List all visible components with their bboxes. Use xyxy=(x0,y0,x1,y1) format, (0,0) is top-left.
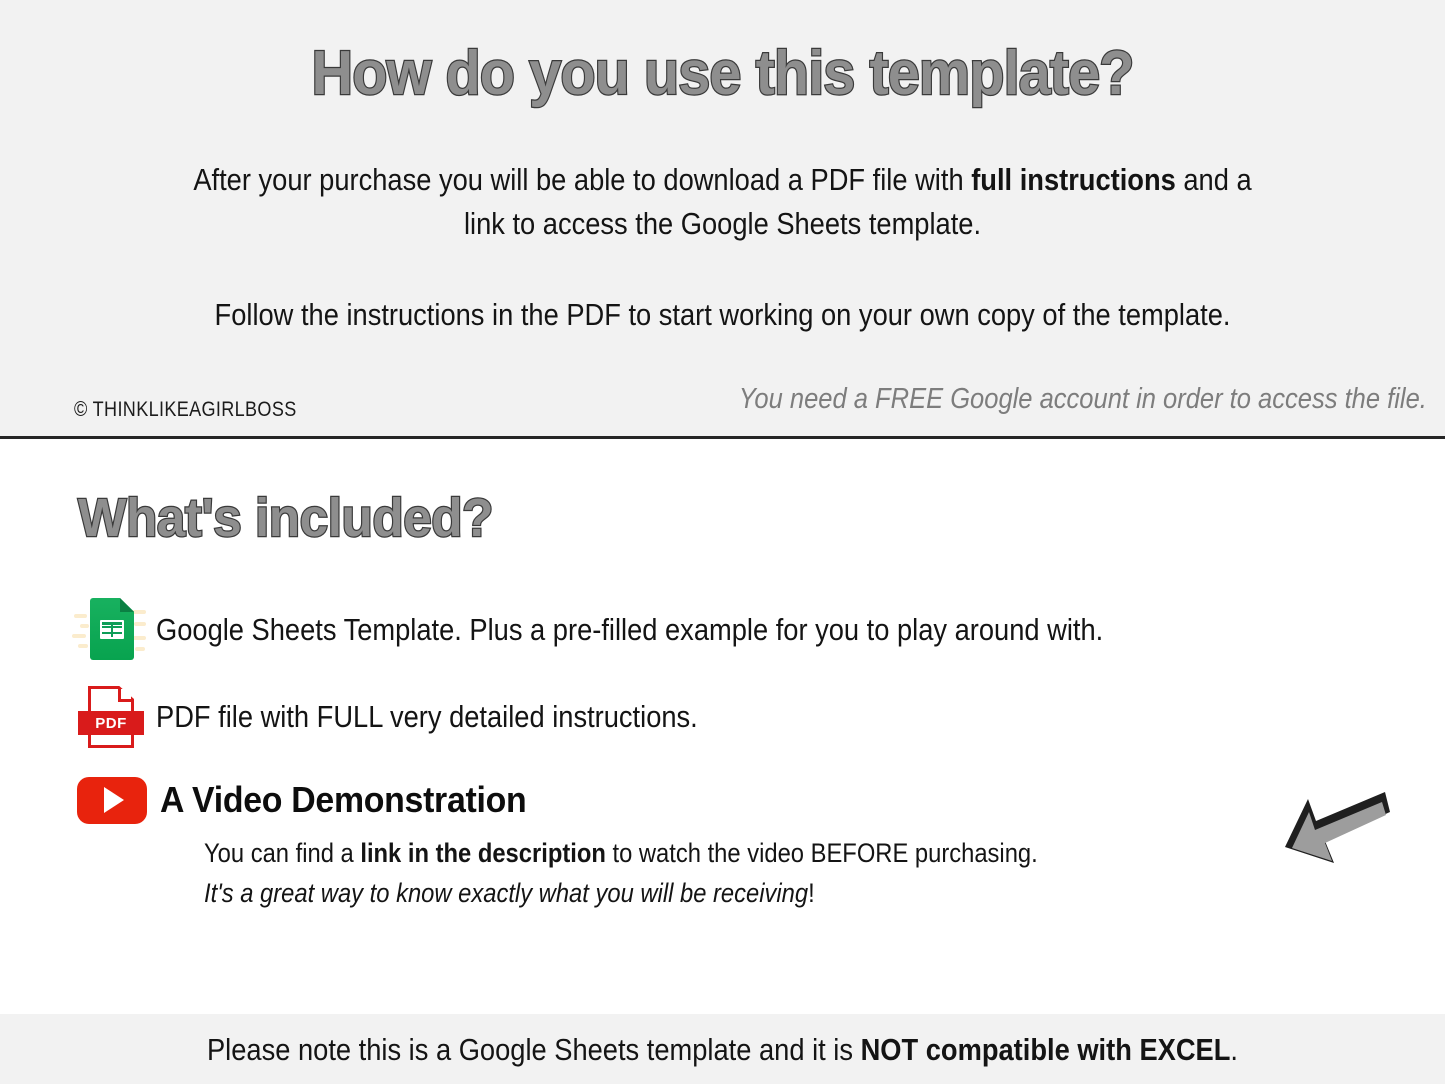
video-encouragement-note: It's a great way to know exactly what yo… xyxy=(204,878,815,909)
video-encouragement-text: It's a great way to know exactly what yo… xyxy=(204,878,808,908)
play-triangle-icon xyxy=(104,787,124,813)
arrow-pointer-icon xyxy=(1282,790,1392,875)
footer-compatibility-note: Please note this is a Google Sheets temp… xyxy=(87,1032,1359,1068)
section-title-whats-included: What's included? xyxy=(78,487,493,549)
list-item-label-pdf: PDF file with FULL very detailed instruc… xyxy=(156,699,698,735)
follow-instructions-paragraph: Follow the instructions in the PDF to st… xyxy=(175,293,1271,337)
youtube-play-icon[interactable] xyxy=(74,773,150,827)
video-note-text-1: You can find a xyxy=(204,838,360,868)
footer-bold: NOT compatible with EXCEL xyxy=(861,1032,1231,1067)
purchase-instructions-text-1: After your purchase you will be able to … xyxy=(193,162,971,197)
pdf-label-band: PDF xyxy=(78,711,144,735)
pdf-label-text: PDF xyxy=(95,715,127,732)
google-sheets-icon xyxy=(72,592,148,668)
list-item-label-video: A Video Demonstration xyxy=(160,779,526,821)
promo-graphic-page: How do you use this template? After your… xyxy=(0,0,1445,1084)
list-item-pdf: PDF PDF file with FULL very detailed ins… xyxy=(72,679,772,755)
purchase-instructions-bold: full instructions xyxy=(971,162,1176,197)
pdf-file-icon: PDF xyxy=(72,679,148,755)
list-item-label-sheets: Google Sheets Template. Plus a pre-fille… xyxy=(156,612,1103,648)
purchase-instructions-paragraph: After your purchase you will be able to … xyxy=(175,158,1271,246)
free-account-note: You need a FREE Google account in order … xyxy=(739,383,1427,416)
how-to-use-section: How do you use this template? After your… xyxy=(0,0,1445,439)
copyright-notice: © THINKLIKEAGIRLBOSS xyxy=(74,398,297,422)
video-note-text-2: to watch the video BEFORE purchasing. xyxy=(606,838,1038,868)
list-item-google-sheets: Google Sheets Template. Plus a pre-fille… xyxy=(72,592,1232,668)
page-title: How do you use this template? xyxy=(51,38,1395,109)
video-description-note: You can find a link in the description t… xyxy=(204,838,1038,869)
sheets-table-glyph xyxy=(100,620,124,639)
video-encouragement-exclamation: ! xyxy=(808,878,815,908)
footer-text-2: . xyxy=(1230,1032,1238,1067)
footer-text-1: Please note this is a Google Sheets temp… xyxy=(207,1032,861,1067)
video-note-bold: link in the description xyxy=(360,838,606,868)
list-item-video: A Video Demonstration xyxy=(74,773,550,827)
